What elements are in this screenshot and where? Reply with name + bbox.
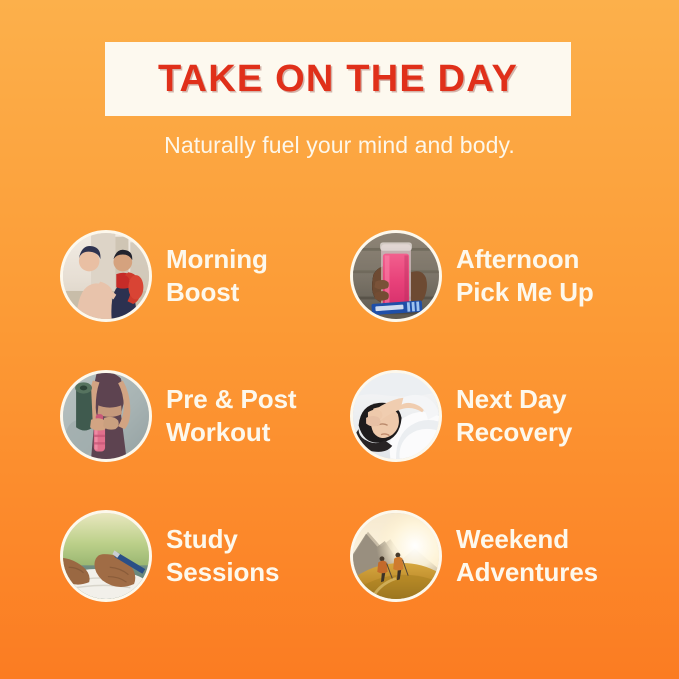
- benefit-label-line1: Study: [166, 524, 238, 554]
- hands-writing-in-notebook-photo: [60, 510, 152, 602]
- benefit-label-line2: Workout: [166, 416, 297, 449]
- benefit-item-next-day-recovery: Next Day Recovery: [350, 346, 640, 486]
- woman-with-yoga-mat-and-bottle-photo: [60, 370, 152, 462]
- mother-and-child-with-backpack-photo: [60, 230, 152, 322]
- benefit-item-morning-boost: Morning Boost: [60, 206, 350, 346]
- hikers-on-mountain-at-sunset-photo: [350, 510, 442, 602]
- benefit-label-study-sessions: Study Sessions: [166, 523, 279, 590]
- benefit-label-line2: Recovery: [456, 416, 572, 449]
- benefit-label-morning-boost: Morning Boost: [166, 243, 268, 310]
- benefit-label-line1: Afternoon: [456, 244, 579, 274]
- subtitle: Naturally fuel your mind and body.: [0, 132, 679, 159]
- benefit-label-line2: Adventures: [456, 556, 598, 589]
- benefit-label-weekend-adventures: Weekend Adventures: [456, 523, 598, 590]
- benefit-label-line1: Morning: [166, 244, 268, 274]
- benefit-label-line1: Next Day: [456, 384, 566, 414]
- benefit-label-line2: Pick Me Up: [456, 276, 594, 309]
- benefit-item-pre-post-workout: Pre & Post Workout: [60, 346, 350, 486]
- benefit-label-afternoon-pick-me-up: Afternoon Pick Me Up: [456, 243, 594, 310]
- benefit-label-pre-post-workout: Pre & Post Workout: [166, 383, 297, 450]
- benefit-label-line1: Weekend: [456, 524, 569, 554]
- benefit-label-line2: Boost: [166, 276, 268, 309]
- woman-resting-in-bed-photo: [350, 370, 442, 462]
- pink-drink-in-jar-photo: [350, 230, 442, 322]
- benefit-item-weekend-adventures: Weekend Adventures: [350, 486, 640, 626]
- benefits-grid: Morning Boost: [60, 206, 660, 626]
- benefit-label-line1: Pre & Post: [166, 384, 297, 414]
- benefit-item-study-sessions: Study Sessions: [60, 486, 350, 626]
- title-banner: TAKE ON THE DAY: [105, 42, 571, 116]
- promotional-poster: TAKE ON THE DAY Naturally fuel your mind…: [0, 0, 679, 679]
- benefit-label-next-day-recovery: Next Day Recovery: [456, 383, 572, 450]
- page-title: TAKE ON THE DAY: [158, 60, 518, 98]
- benefit-item-afternoon-pick-me-up: Afternoon Pick Me Up: [350, 206, 640, 346]
- benefit-label-line2: Sessions: [166, 556, 279, 589]
